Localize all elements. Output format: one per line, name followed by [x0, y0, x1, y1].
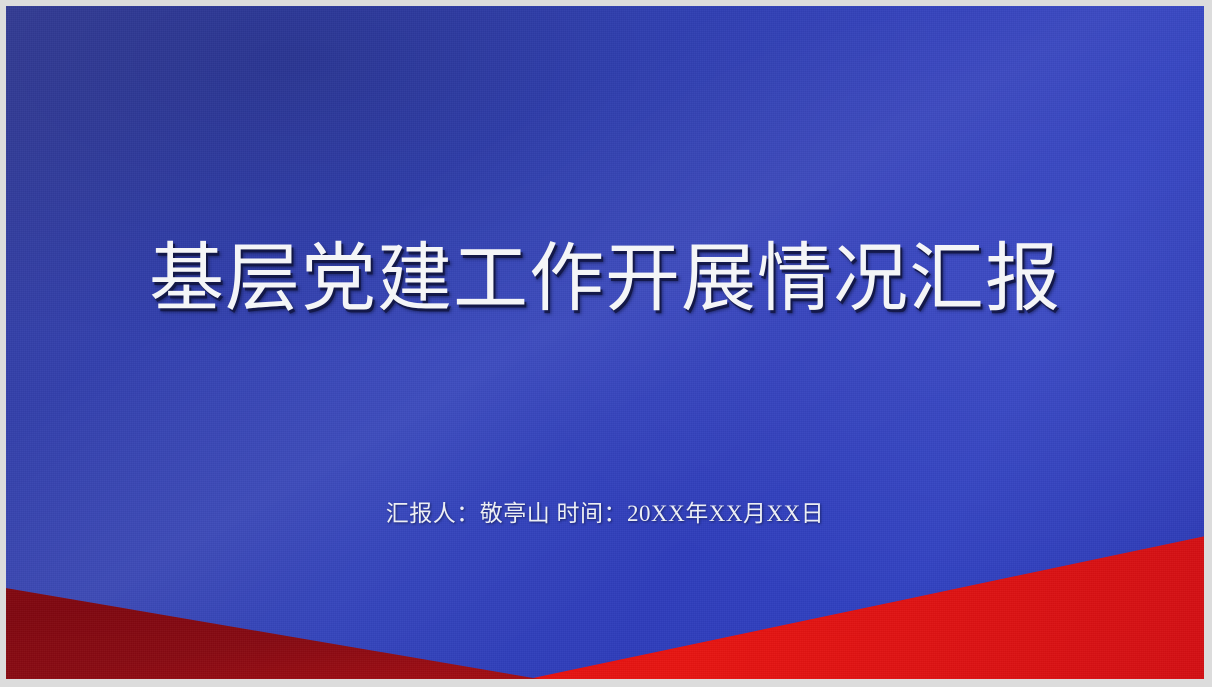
title-block: 基层党建工作开展情况汇报 [6, 242, 1204, 317]
presenter-and-date-line: 汇报人：敬亭山 时间：20XX年XX月XX日 [6, 500, 1204, 528]
slide-frame: 基层党建工作开展情况汇报 汇报人：敬亭山 时间：20XX年XX月XX日 [0, 0, 1212, 687]
subtitle-block: 汇报人：敬亭山 时间：20XX年XX月XX日 [6, 500, 1204, 528]
presentation-slide[interactable]: 基层党建工作开展情况汇报 汇报人：敬亭山 时间：20XX年XX月XX日 [6, 6, 1204, 679]
page-title: 基层党建工作开展情况汇报 [6, 242, 1204, 317]
